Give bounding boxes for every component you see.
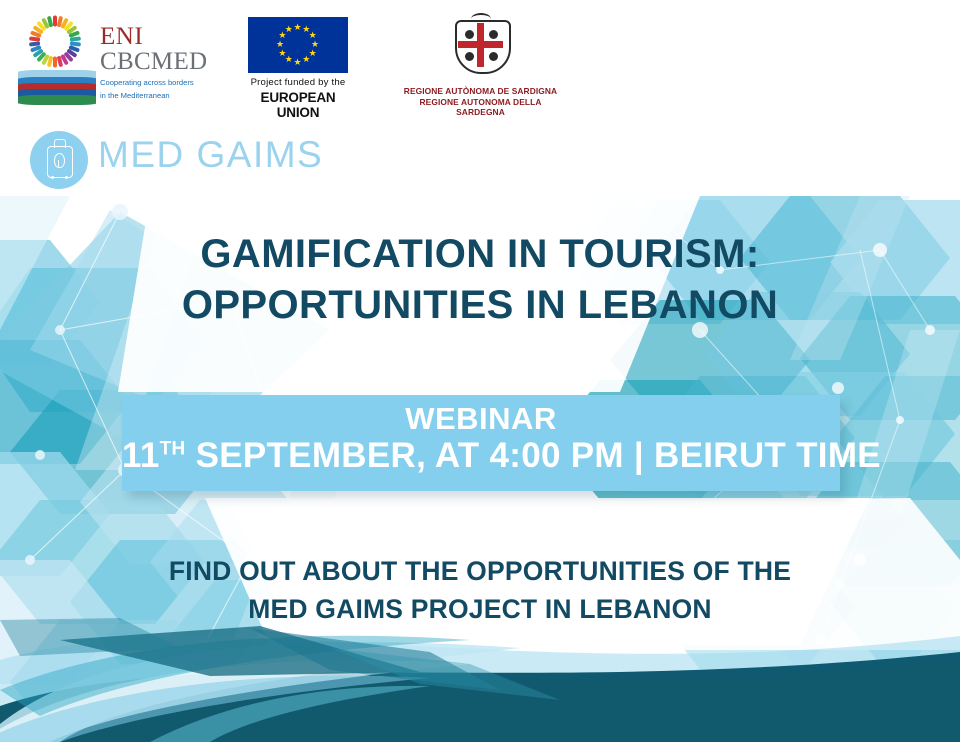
logo-european-union: ★★★★★★★★★★★★ Project funded by the EUROP…	[243, 17, 353, 109]
headline-line2: OPPORTUNITIES IN LEBANON	[0, 280, 960, 331]
webinar-poster: ENI CBCMED Cooperating across borders in…	[0, 0, 960, 742]
eni-sun-waves-icon	[18, 18, 96, 106]
brand-name: MED GAIMS	[98, 134, 323, 176]
event-date-line: 11TH SEPTEMBER, AT 4:00 PM | BEIRUT TIME	[122, 436, 840, 476]
event-day-suffix: TH	[160, 438, 186, 459]
four-moors-shield-icon	[451, 16, 511, 80]
event-day: 11	[122, 436, 160, 475]
brand-med-gaims: MED GAIMS	[30, 131, 330, 193]
suitcase-with-tree-icon	[30, 131, 88, 189]
page-subtitle: FIND OUT ABOUT THE OPPORTUNITIES OF THE …	[0, 552, 960, 628]
subtitle-line1: FIND OUT ABOUT THE OPPORTUNITIES OF THE	[169, 556, 791, 586]
eni-line1: ENI	[100, 24, 207, 49]
eni-tagline-line1: Cooperating across borders	[100, 78, 207, 88]
subtitle-line2: MED GAIMS PROJECT IN LEBANON	[0, 590, 960, 628]
eni-line2: CBCMED	[100, 49, 207, 75]
page-title: GAMIFICATION IN TOURISM: OPPORTUNITIES I…	[0, 229, 960, 331]
event-kind: WEBINAR	[122, 401, 840, 437]
eu-caption-line1: Project funded by the	[243, 77, 353, 88]
eni-tagline-line2: in the Mediterranean	[100, 91, 207, 101]
logo-eni-cbcmed: ENI CBCMED Cooperating across borders in…	[18, 18, 218, 108]
sardegna-caption-line1: REGIONE AUTÒNOMA DE SARDIGNA	[398, 86, 563, 96]
event-date-rest: SEPTEMBER, AT 4:00 PM | BEIRUT TIME	[186, 436, 881, 475]
eu-flag-icon: ★★★★★★★★★★★★	[248, 17, 348, 73]
event-banner: WEBINAR 11TH SEPTEMBER, AT 4:00 PM | BEI…	[122, 395, 840, 491]
partner-logo-strip: ENI CBCMED Cooperating across borders in…	[0, 0, 960, 125]
headline-line1: GAMIFICATION IN TOURISM:	[200, 232, 759, 276]
eu-caption-line2: EUROPEAN UNION	[243, 90, 353, 120]
logo-regione-sardegna: REGIONE AUTÒNOMA DE SARDIGNA REGIONE AUT…	[398, 16, 563, 110]
sardegna-caption-line2: REGIONE AUTONOMA DELLA SARDEGNA	[398, 97, 563, 117]
